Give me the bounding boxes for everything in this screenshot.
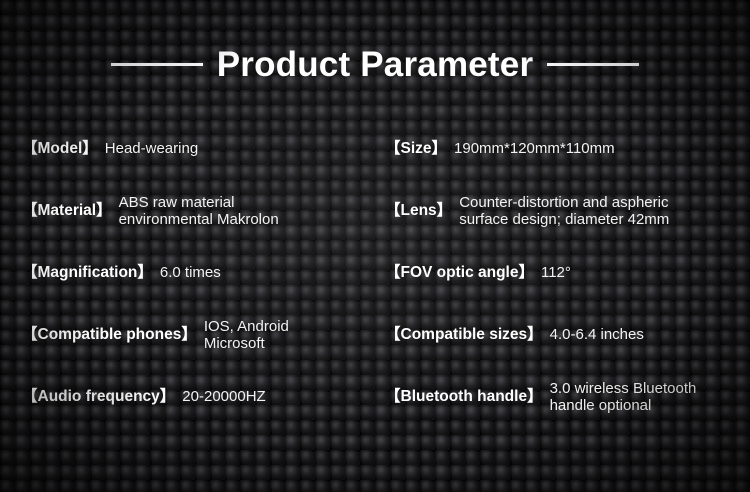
spec-row-bluetooth-handle: 【Bluetooth handle】 3.0 wireless Bluetoot… xyxy=(385,366,735,428)
spec-label-size: 【Size】 xyxy=(385,140,447,158)
spec-value-material: ABS raw material environmental Makrolon xyxy=(119,194,279,229)
spec-column-right: 【Size】 190mm*120mm*110mm 【Lens】 Counter-… xyxy=(385,118,735,428)
spec-row-audio-frequency: 【Audio frequency】 20-20000HZ xyxy=(22,366,372,428)
spec-row-fov-optic-angle: 【FOV optic angle】 112° xyxy=(385,242,735,304)
spec-label-model: 【Model】 xyxy=(22,140,98,158)
spec-value-bluetooth-handle: 3.0 wireless Bluetooth handle optional xyxy=(550,380,697,415)
spec-column-left: 【Model】 Head-wearing 【Material】 ABS raw … xyxy=(22,118,372,428)
title-right-rule xyxy=(547,63,639,66)
banner-content: Product Parameter 【Model】 Head-wearing 【… xyxy=(0,0,750,492)
spec-row-magnification: 【Magnification】 6.0 times xyxy=(22,242,372,304)
spec-value-compatible-phones: IOS, Android Microsoft xyxy=(204,318,289,353)
spec-row-lens: 【Lens】 Counter-distortion and aspheric s… xyxy=(385,180,735,242)
spec-row-model: 【Model】 Head-wearing xyxy=(22,118,372,180)
spec-label-compatible-sizes: 【Compatible sizes】 xyxy=(385,326,543,344)
spec-value-lens: Counter-distortion and aspheric surface … xyxy=(459,194,669,229)
spec-label-audio-frequency: 【Audio frequency】 xyxy=(22,388,175,406)
spec-label-compatible-phones: 【Compatible phones】 xyxy=(22,326,197,344)
spec-label-bluetooth-handle: 【Bluetooth handle】 xyxy=(385,388,543,406)
spec-value-compatible-sizes: 4.0-6.4 inches xyxy=(550,326,644,344)
spec-row-material: 【Material】 ABS raw material environmenta… xyxy=(22,180,372,242)
spec-value-size: 190mm*120mm*110mm xyxy=(454,140,615,158)
spec-label-fov-optic-angle: 【FOV optic angle】 xyxy=(385,264,534,282)
spec-value-audio-frequency: 20-20000HZ xyxy=(182,388,265,406)
page-title: Product Parameter xyxy=(217,47,534,82)
spec-label-material: 【Material】 xyxy=(22,202,112,220)
product-parameter-banner: Product Parameter 【Model】 Head-wearing 【… xyxy=(0,0,750,492)
title-block: Product Parameter xyxy=(0,40,750,88)
spec-label-lens: 【Lens】 xyxy=(385,202,452,220)
spec-row-size: 【Size】 190mm*120mm*110mm xyxy=(385,118,735,180)
spec-label-magnification: 【Magnification】 xyxy=(22,264,153,282)
spec-value-fov-optic-angle: 112° xyxy=(541,264,571,282)
spec-value-model: Head-wearing xyxy=(105,140,198,158)
spec-row-compatible-phones: 【Compatible phones】 IOS, Android Microso… xyxy=(22,304,372,366)
spec-value-magnification: 6.0 times xyxy=(160,264,221,282)
title-left-rule xyxy=(111,63,203,66)
spec-row-compatible-sizes: 【Compatible sizes】 4.0-6.4 inches xyxy=(385,304,735,366)
